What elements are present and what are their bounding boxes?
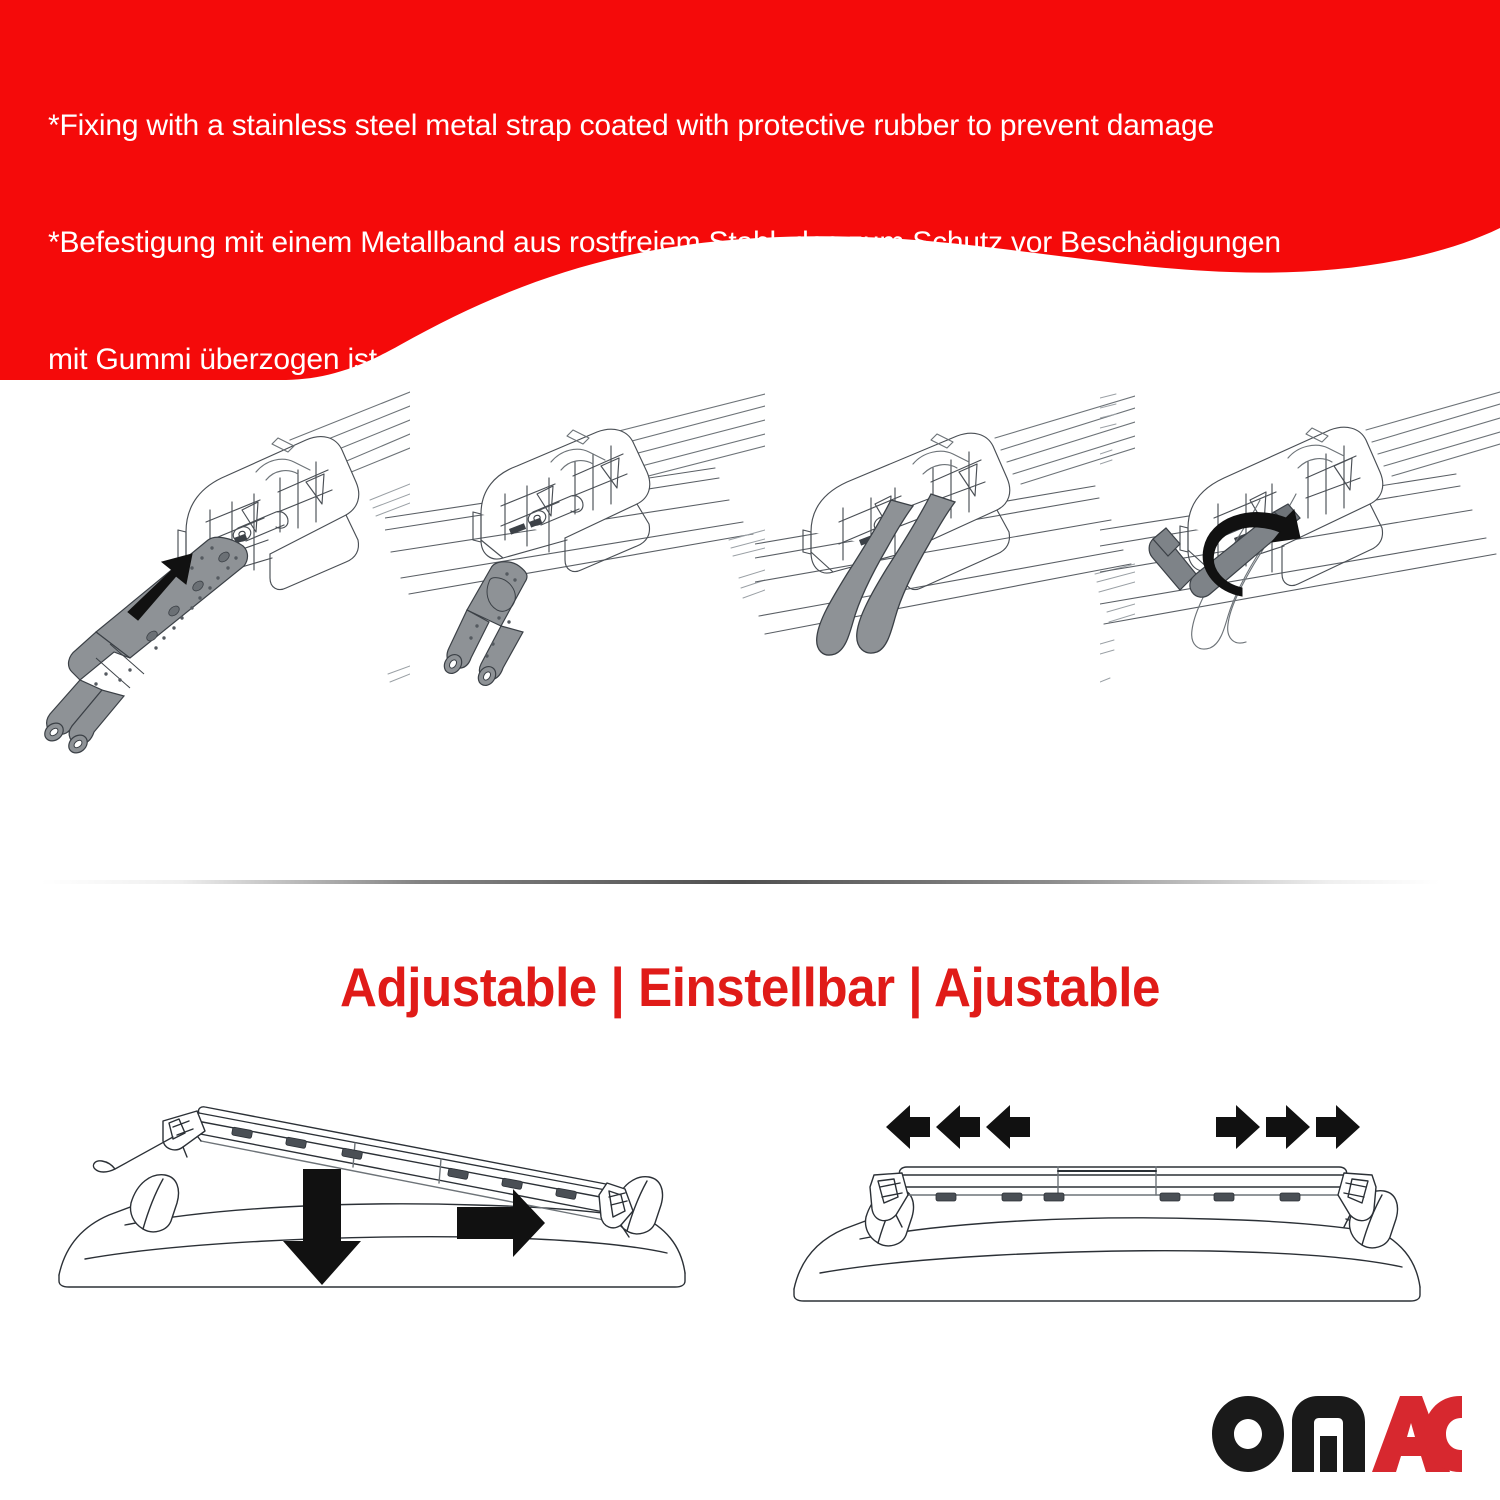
logo-letter-m <box>1292 1396 1365 1472</box>
adjustable-diagrams-row <box>0 1075 1500 1405</box>
omac-logo <box>1212 1396 1462 1472</box>
step-2-diagram <box>385 382 765 852</box>
step-1-diagram <box>10 382 410 852</box>
header-banner: *Fixing with a stainless steel metal str… <box>0 0 1500 380</box>
crossbar-width-adjust-diagram <box>790 1075 1450 1405</box>
car-roof-outline <box>59 1175 685 1287</box>
triple-left-arrow <box>886 1105 1030 1149</box>
adjustable-title: Adjustable | Einstellbar | Ajustable <box>53 955 1448 1019</box>
stainless-steel-strap <box>41 537 247 756</box>
hanging-strap <box>93 1137 173 1172</box>
infographic-page: *Fixing with a stainless steel metal str… <box>0 0 1500 1500</box>
crossbar-mounting-diagram <box>55 1075 715 1405</box>
banner-line-de-1: *Befestigung mit einem Metallband aus ro… <box>48 223 1468 262</box>
banner-line-en: *Fixing with a stainless steel metal str… <box>48 106 1468 145</box>
down-arrow <box>283 1169 361 1285</box>
crossbar-assembly <box>163 1107 633 1237</box>
section-divider <box>40 880 1440 884</box>
installation-steps-row <box>0 382 1500 852</box>
triple-right-arrow <box>1216 1105 1360 1149</box>
rack-foot-shell <box>473 429 650 571</box>
step-4-diagram <box>1100 382 1500 852</box>
banner-line-de-2: mit Gummi überzogen ist <box>48 340 1468 379</box>
step-3-diagram <box>755 382 1135 852</box>
stainless-steel-strap <box>441 562 527 689</box>
logo-letter-o <box>1212 1396 1284 1472</box>
